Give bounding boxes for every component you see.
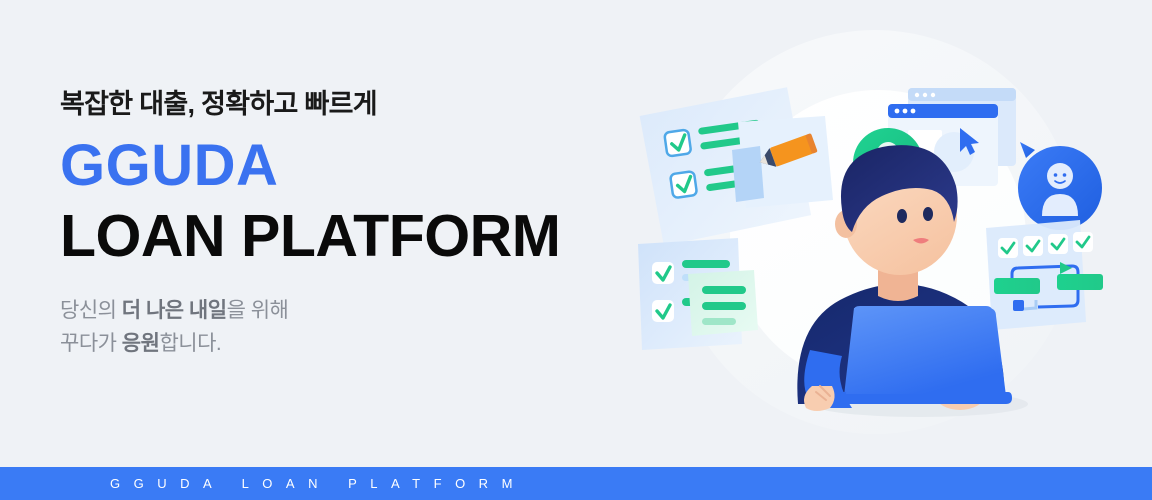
brand-name: GGUDA <box>60 136 620 197</box>
subtitle-2-bold: 응원 <box>122 332 160 355</box>
tagline: 복잡한 대출, 정확하고 빠르게 <box>60 88 620 120</box>
subtitle-1-pre: 당신의 <box>60 299 122 322</box>
bottom-bar-text: GGUDA LOAN PLATFORM <box>0 476 526 491</box>
hero-copy: 복잡한 대출, 정확하고 빠르게 GGUDA LOAN PLATFORM 당신의… <box>60 88 620 360</box>
subtitle-1-post: 을 위해 <box>227 299 289 322</box>
workflow-card-right <box>986 220 1103 330</box>
pencil-note-card <box>732 116 833 208</box>
hero-illustration <box>620 0 1152 468</box>
subtitle-2-pre: 꾸다가 <box>60 332 122 355</box>
subtitle-line-2: 꾸다가 응원합니다. <box>60 328 620 361</box>
promo-banner: 복잡한 대출, 정확하고 빠르게 GGUDA LOAN PLATFORM 당신의… <box>0 0 1152 500</box>
subtitle-1-bold: 더 나은 내일 <box>122 299 227 322</box>
platform-title: LOAN PLATFORM <box>60 205 620 269</box>
subtitle-2-post: 합니다. <box>159 332 221 355</box>
green-note-card <box>688 270 758 336</box>
subtitle-line-1: 당신의 더 나은 내일을 위해 <box>60 295 620 328</box>
bottom-marquee-bar: GGUDA LOAN PLATFORM <box>0 467 1152 500</box>
subtitle: 당신의 더 나은 내일을 위해 꾸다가 응원합니다. <box>60 295 620 360</box>
